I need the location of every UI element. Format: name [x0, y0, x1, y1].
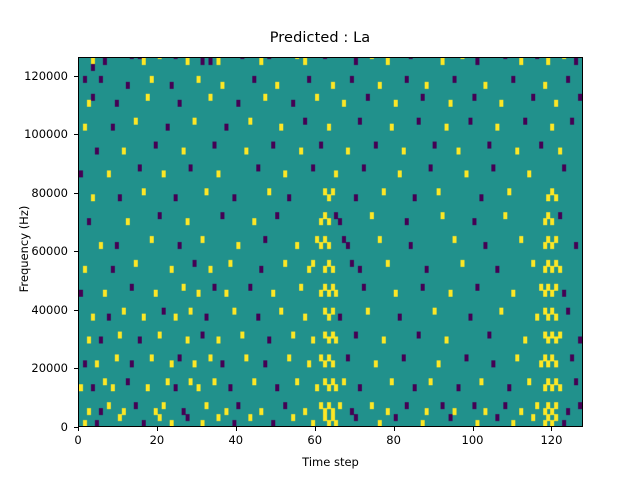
x-tick-label: 40: [206, 433, 266, 447]
y-axis-label: Frequency (Hz): [17, 149, 31, 349]
x-tick-label: 0: [48, 433, 108, 447]
matplotlib-figure: Predicted : La 0200004000060000800001000…: [0, 0, 640, 480]
y-tick-mark: [74, 368, 78, 369]
heatmap-grid: [79, 58, 582, 426]
x-tick-mark: [78, 427, 79, 431]
y-tick-mark: [74, 251, 78, 252]
y-tick-label: 80000: [0, 186, 68, 200]
x-tick-mark: [394, 427, 395, 431]
x-tick-label: 60: [285, 433, 345, 447]
x-tick-mark: [473, 427, 474, 431]
x-tick-mark: [157, 427, 158, 431]
y-tick-label: 40000: [0, 303, 68, 317]
x-tick-mark: [315, 427, 316, 431]
y-tick-label: 60000: [0, 244, 68, 258]
heatmap-axes: [78, 57, 583, 427]
x-tick-label: 120: [521, 433, 581, 447]
y-tick-mark: [74, 134, 78, 135]
y-tick-mark: [74, 193, 78, 194]
x-tick-label: 80: [364, 433, 424, 447]
y-tick-mark: [74, 310, 78, 311]
y-tick-mark: [74, 76, 78, 77]
x-tick-mark: [551, 427, 552, 431]
y-tick-label: 20000: [0, 361, 68, 375]
y-tick-label: 0: [0, 420, 68, 434]
y-tick-label: 100000: [0, 127, 68, 141]
x-axis-label: Time step: [78, 455, 583, 469]
chart-title: Predicted : La: [0, 30, 640, 46]
x-tick-mark: [236, 427, 237, 431]
y-tick-label: 120000: [0, 69, 68, 83]
x-tick-label: 20: [127, 433, 187, 447]
x-tick-label: 100: [443, 433, 503, 447]
